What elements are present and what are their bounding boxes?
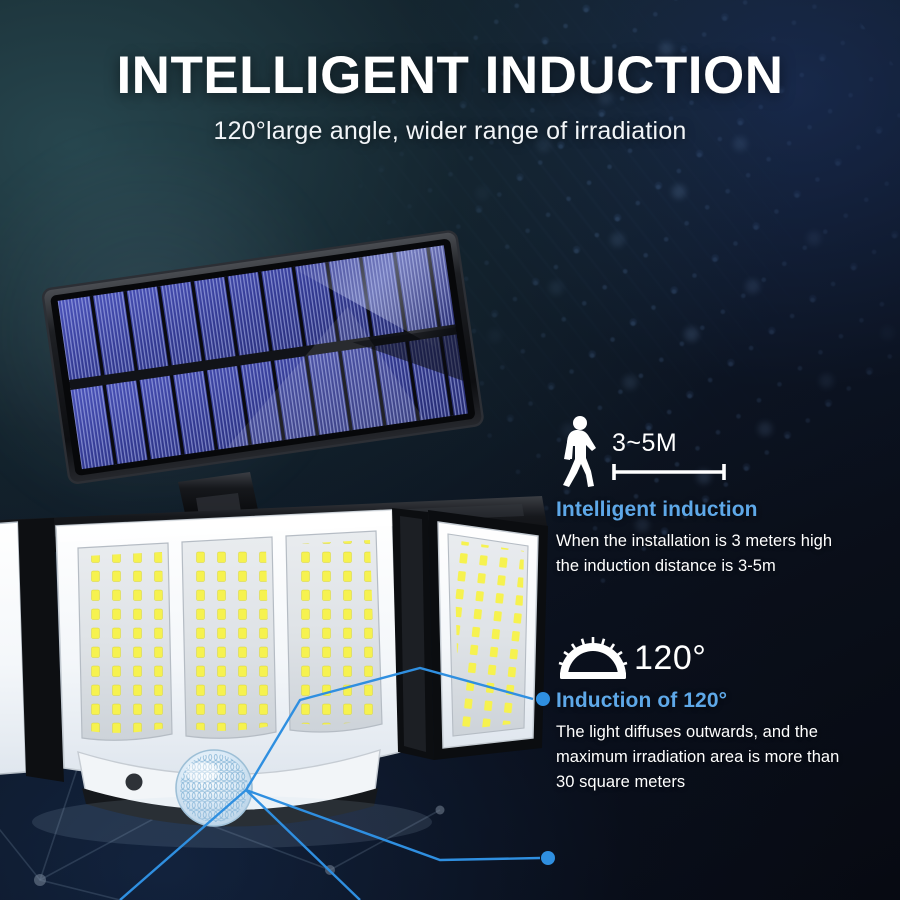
- distance-bar-icon: [610, 461, 728, 483]
- feature-1-body-line-2: the induction distance is 3-5m: [556, 554, 896, 579]
- header-block: INTELLIGENT INDUCTION 120°large angle, w…: [0, 48, 900, 146]
- page-subtitle: 120°large angle, wider range of irradiat…: [0, 117, 900, 146]
- led-panel-2: [182, 537, 276, 738]
- feature-2-title: Induction of 120°: [556, 689, 900, 713]
- feature-2-body-line-1: The light diffuses outwards, and the: [556, 720, 900, 745]
- feature-1-title: Intelligent induction: [556, 498, 896, 522]
- feature-2-body-line-2: maximum irradiation area is more than: [556, 745, 900, 770]
- led-panel-1: [78, 543, 172, 740]
- walking-person-icon: [556, 415, 600, 489]
- connector-endpoint-dot: [541, 851, 555, 865]
- feature-2-body: The light diffuses outwards, and the max…: [556, 720, 900, 795]
- product-feature-graphic: INTELLIGENT INDUCTION 120°large angle, w…: [0, 0, 900, 900]
- feature-1-icons: 3~5M: [556, 415, 896, 489]
- feature-induction-angle: 120° Induction of 120° The light diffuse…: [556, 636, 900, 795]
- measure-label: 3~5M: [612, 429, 677, 458]
- led-panel-main: [56, 510, 400, 778]
- protractor-icon: [556, 636, 630, 680]
- page-title: INTELLIGENT INDUCTION: [0, 48, 900, 104]
- feature-intelligent-induction: 3~5M Intelligent induction When the inst…: [556, 415, 896, 579]
- distance-measure: 3~5M: [610, 429, 730, 487]
- indicator-dot: [126, 774, 143, 791]
- angle-label: 120°: [634, 641, 706, 675]
- led-panel-right-wing: [428, 510, 548, 760]
- feature-2-icons: 120°: [556, 636, 900, 680]
- feature-2-body-line-3: 30 square meters: [556, 770, 900, 795]
- solar-panel: [42, 230, 484, 484]
- product-image: [0, 282, 582, 827]
- led-panel-3: [286, 531, 382, 732]
- feature-1-body: When the installation is 3 meters high t…: [556, 529, 896, 579]
- feature-1-body-line-1: When the installation is 3 meters high: [556, 529, 896, 554]
